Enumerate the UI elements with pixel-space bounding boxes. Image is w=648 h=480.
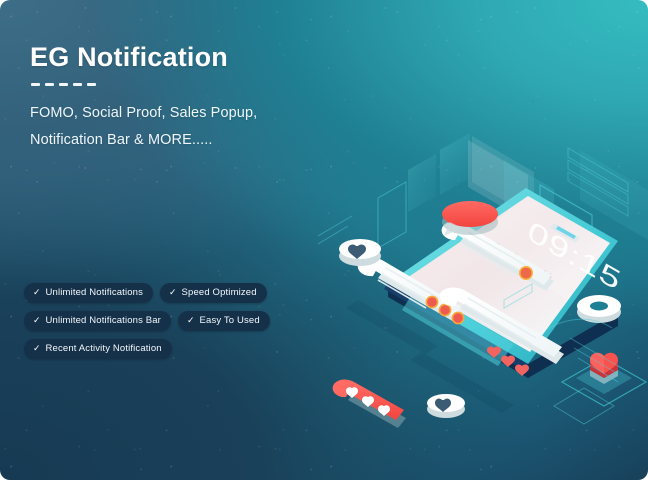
feature-badge-label: Speed Optimized [182,287,257,298]
check-icon: ✓ [187,316,195,325]
check-icon: ✓ [169,288,177,297]
feature-badge-label: Unlimited Notifications [46,287,143,298]
check-icon: ✓ [33,316,41,325]
divider-dash [45,83,54,86]
subtitle-line-1: FOMO, Social Proof, Sales Popup, [30,105,257,121]
divider-dash [31,83,40,86]
page-subtitle: FOMO, Social Proof, Sales Popup, Notific… [30,100,330,154]
feature-badge-row: ✓ Unlimited Notifications ✓ Speed Optimi… [24,283,324,303]
page-title: EG Notification [30,40,330,74]
feature-badge-list: ✓ Unlimited Notifications ✓ Speed Optimi… [24,283,324,367]
promo-banner: 09:15 Sat, August 26 [0,0,648,480]
feature-badge-speed-optimized[interactable]: ✓ Speed Optimized [160,283,267,303]
check-icon: ✓ [33,344,41,353]
feature-badge-unlimited-notifications-bar[interactable]: ✓ Unlimited Notifications Bar [24,311,171,331]
feature-badge-easy-to-used[interactable]: ✓ Easy To Used [178,311,270,331]
feature-badge-unlimited-notifications[interactable]: ✓ Unlimited Notifications [24,283,153,303]
heart-pill-red [333,379,406,428]
subtitle-line-2: Notification Bar & MORE..... [30,132,213,148]
check-icon: ✓ [33,288,41,297]
divider-dash [73,83,82,86]
banner-copy: EG Notification FOMO, Social Proof, Sale… [30,40,330,154]
heart-coin-white [427,394,465,418]
divider-dash [59,83,68,86]
speech-bubble-red [442,201,498,236]
feature-badge-row: ✓ Recent Activity Notification [24,339,324,359]
feature-badge-row: ✓ Unlimited Notifications Bar ✓ Easy To … [24,311,324,331]
isometric-notification-illustration: 09:15 Sat, August 26 [318,0,648,480]
heart-block-red [562,353,646,406]
feature-badge-recent-activity-notification[interactable]: ✓ Recent Activity Notification [24,339,172,359]
feature-badge-label: Unlimited Notifications Bar [46,315,161,326]
dashed-divider [31,83,330,86]
feature-badge-label: Recent Activity Notification [46,343,162,354]
divider-dash [87,83,96,86]
feature-badge-label: Easy To Used [200,315,260,326]
heart-coin-white [339,239,381,266]
